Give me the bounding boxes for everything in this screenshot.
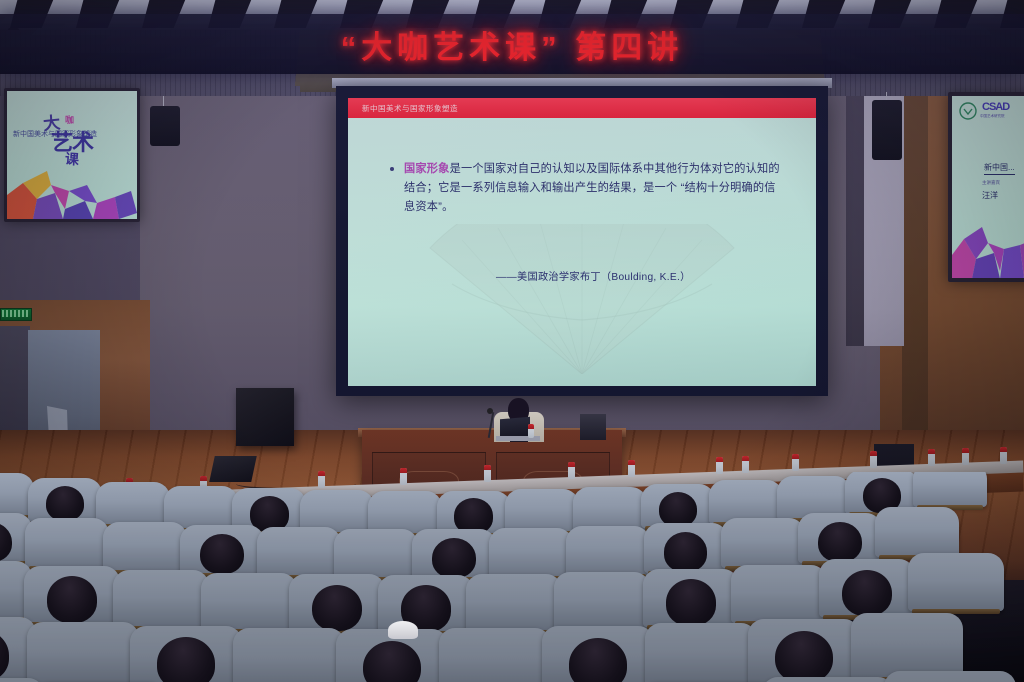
right-display-frame: CSAD 中国艺术研究院 新中国... 主讲嘉宾 汪洋 <box>948 92 1024 282</box>
audience-seat[interactable] <box>762 677 894 682</box>
podium-monitor <box>580 414 606 440</box>
audience-seat[interactable] <box>731 565 827 623</box>
audience-seat[interactable] <box>851 613 963 679</box>
audience-seating <box>0 472 1024 682</box>
water-bottle <box>962 448 969 465</box>
bullet-point-icon <box>390 167 394 171</box>
audience-member-head <box>157 637 215 682</box>
slide-bullet-body: 是一个国家对自己的认知以及国际体系中其他行为体对它的认知的结合；它是一系列信息输… <box>404 163 780 213</box>
audience-seat[interactable] <box>489 528 573 578</box>
left-display-screen: 新中国美术与国家形象塑造 大 咖 艺术 课 <box>7 91 137 219</box>
audience-seat[interactable] <box>113 570 209 628</box>
led-banner: “大咖艺术课” 第四讲 <box>0 14 1024 74</box>
right-column-strip <box>902 96 928 436</box>
audience-seat[interactable] <box>875 507 959 557</box>
audience-member-head <box>432 538 476 578</box>
water-bottle <box>792 454 799 471</box>
audience-seat[interactable] <box>721 518 805 568</box>
audience-member-head <box>666 579 716 625</box>
audience-seat[interactable] <box>201 573 297 631</box>
hanging-speaker-left <box>150 106 180 146</box>
audience-seat[interactable] <box>554 572 650 630</box>
audience-seat[interactable] <box>257 527 341 577</box>
banner-title: “大咖艺术课” 第四讲 <box>341 22 684 67</box>
audience-seat[interactable] <box>505 489 579 533</box>
right-display-mosaic <box>952 209 1024 278</box>
audience-member-head <box>569 638 627 682</box>
right-column-strip-2 <box>846 96 864 346</box>
water-bottle <box>870 451 877 468</box>
audience-seat[interactable] <box>96 482 170 526</box>
right-display-title: 新中国... <box>984 162 1015 175</box>
audience-seat[interactable] <box>25 518 109 568</box>
main-projection-screen: 新中国美术与国家形象塑造 <box>336 86 828 396</box>
audience-member-head <box>842 570 892 616</box>
exit-sign-text <box>2 310 28 317</box>
audience-seat[interactable] <box>645 623 757 682</box>
audience-seat[interactable] <box>573 487 647 531</box>
water-bottle <box>928 449 935 466</box>
presentation-slide: 新中国美术与国家形象塑造 <box>348 98 816 386</box>
water-bottle <box>528 424 534 438</box>
audience-member-head <box>775 631 833 682</box>
slide-attribution: ——美国政治学家布丁（Boulding, K.E.） <box>496 268 691 283</box>
audience-member-head <box>200 534 244 574</box>
audience-member-head <box>312 585 362 631</box>
audience-member-head <box>664 532 708 572</box>
right-display-screen: CSAD 中国艺术研究院 新中国... 主讲嘉宾 汪洋 <box>952 96 1024 278</box>
right-display-logo: CSAD <box>982 101 1009 113</box>
audience-seat[interactable] <box>334 529 418 579</box>
audience-seat[interactable] <box>908 553 1004 611</box>
audience-member-cap <box>388 621 418 639</box>
audience-seat[interactable] <box>233 628 345 682</box>
fan-watermark-icon <box>422 224 742 374</box>
slide-body: 国家形象是一个国家对自己的认知以及国际体系中其他行为体对它的认知的结合；它是一系… <box>390 160 786 217</box>
audience-member-head <box>47 576 97 622</box>
audience-seat[interactable] <box>27 622 139 682</box>
audience-seat[interactable] <box>466 574 562 632</box>
right-display-emblem-icon <box>958 102 978 125</box>
audience-seat[interactable] <box>439 628 551 682</box>
right-display-speaker-name: 汪洋 <box>982 190 998 201</box>
slide-bullet-row: 国家形象是一个国家对自己的认知以及国际体系中其他行为体对它的认知的结合；它是一系… <box>390 160 786 217</box>
audience-member-head <box>818 522 862 562</box>
slide-header-title: 新中国美术与国家形象塑造 <box>362 103 458 114</box>
right-display-speaker-label: 主讲嘉宾 <box>982 180 1000 186</box>
water-bottle <box>742 456 749 473</box>
water-bottle <box>1000 447 1007 464</box>
audience-seat[interactable] <box>913 472 987 507</box>
audience-seat[interactable] <box>566 526 650 576</box>
microphone-icon <box>487 408 493 414</box>
subwoofer-speaker <box>236 388 294 446</box>
hanging-speaker-right <box>872 100 902 160</box>
audience-member-head <box>46 486 84 521</box>
left-display-frame: 新中国美术与国家形象塑造 大 咖 艺术 课 <box>4 88 140 222</box>
right-display-org: 中国艺术研究院 <box>980 114 1005 119</box>
slide-header-bar: 新中国美术与国家形象塑造 <box>348 98 816 118</box>
slide-bullet-text: 国家形象是一个国家对自己的认知以及国际体系中其他行为体对它的认知的结合；它是一系… <box>404 160 786 217</box>
left-display-mosaic <box>7 165 137 219</box>
lecture-hall-photo: “大咖艺术课” 第四讲 新中国美术与国家形象塑造 大 咖 艺术 课 <box>0 0 1024 682</box>
slide-highlight-term: 国家形象 <box>404 163 450 175</box>
audience-seat[interactable] <box>884 671 1016 682</box>
audience-seat[interactable] <box>103 522 187 572</box>
